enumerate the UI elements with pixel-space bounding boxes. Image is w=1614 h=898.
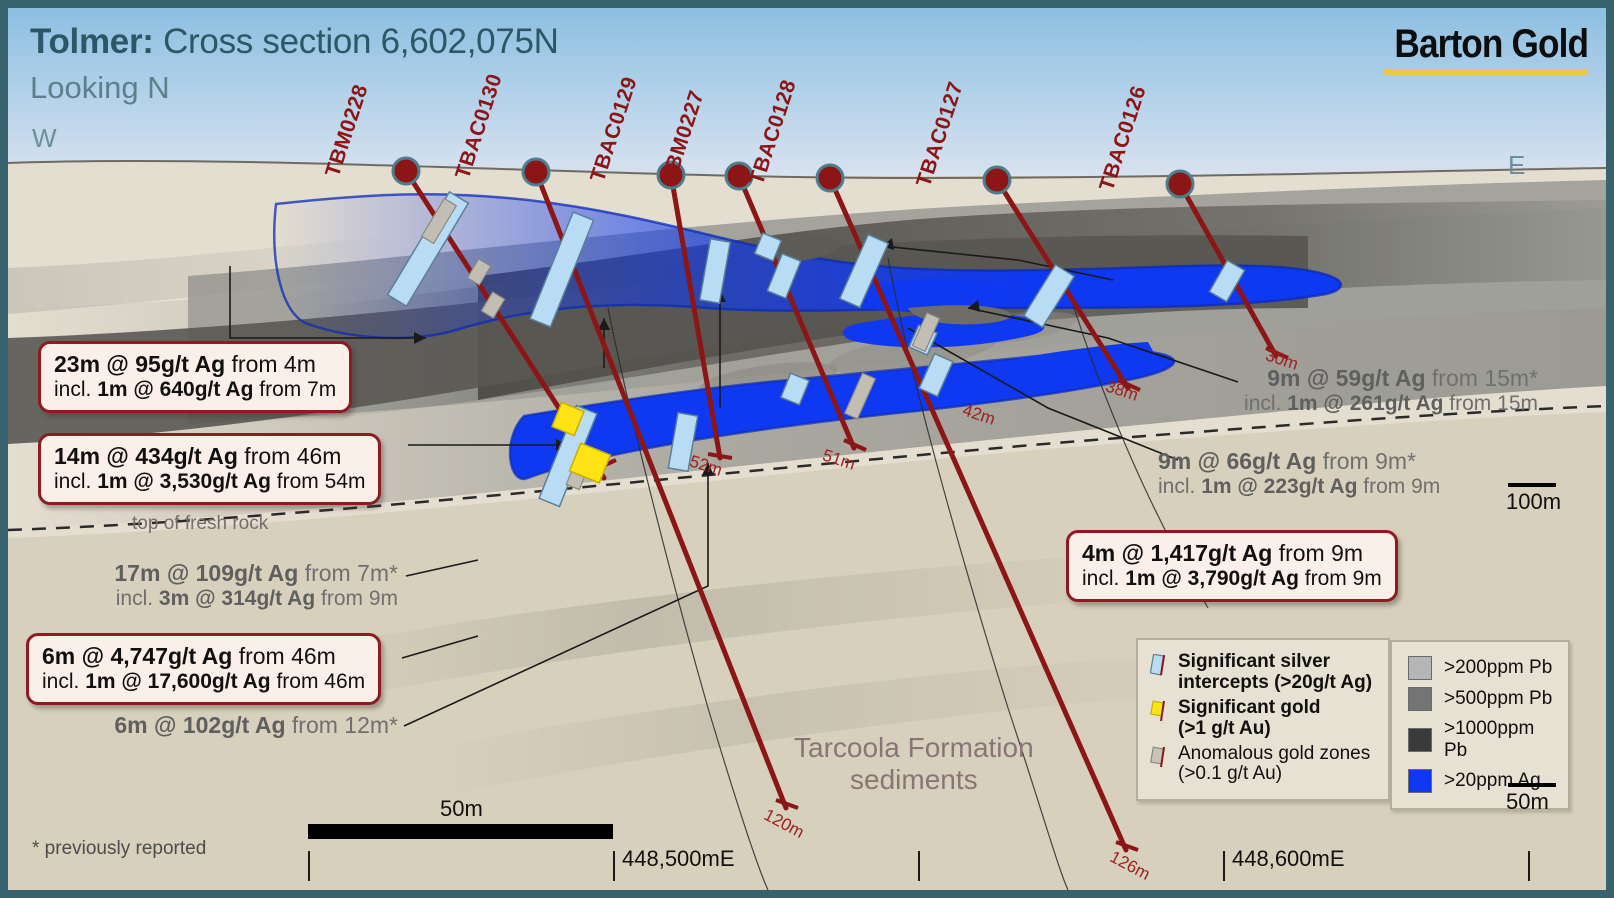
callout-4-from: from 46m (232, 643, 336, 669)
swatch-1000ppm-pb (1408, 728, 1432, 752)
callout-1-incl-pre: incl. (54, 378, 97, 401)
swatch-200ppm-pb (1408, 656, 1432, 680)
callout-6m-4747gt: 6m @ 4,747g/t Ag from 46m incl. 1m @ 17,… (26, 633, 381, 705)
callout-1-incl-value: 1m @ 640g/t Ag (97, 378, 253, 401)
title-rest: Cross section 6,602,075N (154, 22, 559, 61)
callout-1-value: 23m @ 95g/t Ag (54, 351, 225, 377)
top-of-fresh-rock-label: top of fresh rock (132, 513, 268, 535)
legend-label-200ppm: >200ppm Pb (1444, 657, 1552, 679)
legend-anomalous-l2: (>0.1 g/t Au) (1178, 763, 1282, 784)
coord-tick-mid (918, 851, 920, 881)
callout-6m-102gt: 6m @ 102g/t Ag from 12m* (68, 712, 398, 739)
callout-9m-66gt: 9m @ 66g/t Ag from 9m* incl. 1m @ 223g/t… (1158, 448, 1538, 499)
callout-8-incl-pre: incl. (1082, 567, 1125, 590)
cross-section-figure: Tolmer: Cross section 6,602,075N Looking… (0, 0, 1614, 898)
callout-6-value: 9m @ 59g/t Ag (1267, 365, 1425, 391)
callout-4-incl-value: 1m @ 17,600g/t Ag (85, 670, 270, 693)
legend-label-1000ppm: >1000ppm Pb (1444, 718, 1558, 762)
legend-row-1000ppm: >1000ppm Pb (1408, 718, 1558, 762)
callout-2-from: from 46m (238, 443, 342, 469)
callout-8-from: from 9m (1272, 540, 1363, 566)
vertical-scale-tick-100m (1508, 483, 1556, 487)
callout-3-from: from 7m* (298, 560, 398, 586)
formation-line-1: Tarcoola Formation (794, 732, 1034, 764)
silver-intercept-icon (1150, 654, 1170, 674)
brand-logo: Barton Gold (1368, 22, 1588, 75)
callout-7-value: 9m @ 66g/t Ag (1158, 448, 1316, 474)
brand-name: Barton Gold (1394, 22, 1588, 67)
callout-9m-59gt: 9m @ 59g/t Ag from 15m* incl. 1m @ 261g/… (1158, 365, 1538, 416)
callout-23m-95gt: 23m @ 95g/t Ag from 4m incl. 1m @ 640g/t… (38, 341, 352, 413)
legend-gold-l1: Significant gold (1178, 697, 1321, 718)
gold-intercept-icon (1150, 700, 1170, 720)
callout-4-incl-from: from 46m (271, 670, 366, 693)
scale-bar-label: 50m (440, 796, 483, 822)
vertical-scale-label-100m: 100m (1506, 489, 1561, 515)
callout-8-value: 4m @ 1,417g/t Ag (1082, 540, 1272, 566)
callout-6-incl-from: from 15m (1443, 392, 1538, 415)
callout-3-value: 17m @ 109g/t Ag (114, 560, 298, 586)
legend-item-anomalous: Anomalous gold zones (>0.1 g/t Au) (1150, 744, 1378, 786)
callout-4-incl-pre: incl. (42, 670, 85, 693)
callout-4m-1417gt: 4m @ 1,417g/t Ag from 9m incl. 1m @ 3,79… (1066, 530, 1398, 602)
callout-5-value: 6m @ 102g/t Ag (114, 712, 285, 738)
legend-gold-l2: (>1 g/t Au) (1178, 718, 1271, 739)
coord-tick-right (1223, 851, 1225, 881)
subtitle: Looking N (30, 70, 170, 106)
callout-6-incl-pre: incl. (1244, 392, 1287, 415)
callout-2-value: 14m @ 434g/t Ag (54, 443, 238, 469)
callout-3-incl-value: 3m @ 314g/t Ag (159, 587, 315, 610)
formation-label: Tarcoola Formation sediments (794, 732, 1034, 796)
callout-7-incl-from: from 9m (1357, 475, 1440, 498)
callout-7-from: from 9m* (1316, 448, 1416, 474)
callout-1-incl-from: from 7m (253, 378, 336, 401)
callout-2-incl-value: 1m @ 3,530g/t Ag (97, 470, 271, 493)
coord-tick-left (308, 851, 310, 881)
scale-bar (308, 824, 613, 839)
callout-1-from: from 4m (225, 351, 316, 377)
coord-tick-far-right (1528, 851, 1530, 881)
legend-item-gold: Significant gold (>1 g/t Au) (1150, 698, 1378, 740)
callout-17m-109gt: 17m @ 109g/t Ag from 7m* incl. 3m @ 314g… (68, 560, 398, 611)
swatch-20ppm-ag (1408, 769, 1432, 793)
legend-symbols: Significant silver intercepts (>20g/t Ag… (1136, 638, 1390, 801)
vertical-scale-tick-50m (1508, 783, 1556, 787)
brand-underline (1383, 69, 1588, 75)
page-title: Tolmer: Cross section 6,602,075N (30, 22, 559, 62)
callout-14m-434gt: 14m @ 434g/t Ag from 46m incl. 1m @ 3,53… (38, 433, 381, 505)
legend-item-silver: Significant silver intercepts (>20g/t Ag… (1150, 652, 1378, 694)
legend-row-200ppm: >200ppm Pb (1408, 656, 1558, 680)
callout-3-incl-from: from 9m (315, 587, 398, 610)
swatch-500ppm-pb (1408, 687, 1432, 711)
callout-2-incl-pre: incl. (54, 470, 97, 493)
footnote: * previously reported (32, 838, 206, 860)
legend-silver-l2: intercepts (>20g/t Ag) (1178, 672, 1372, 693)
callout-7-incl-pre: incl. (1158, 475, 1201, 498)
anomalous-gold-icon (1150, 746, 1170, 766)
callout-2-incl-from: from 54m (271, 470, 366, 493)
legend-silver-l1: Significant silver (1178, 651, 1330, 672)
formation-line-2: sediments (794, 764, 1034, 796)
callout-8-incl-from: from 9m (1299, 567, 1382, 590)
callout-6-from: from 15m* (1426, 365, 1538, 391)
legend-anomalous-l1: Anomalous gold zones (1178, 743, 1370, 764)
coord-label-448500: 448,500mE (622, 846, 735, 872)
vertical-scale-label-50m: 50m (1506, 789, 1549, 815)
callout-7-incl-value: 1m @ 223g/t Ag (1201, 475, 1357, 498)
east-label: E (1508, 150, 1525, 181)
title-bold: Tolmer: (30, 22, 154, 61)
legend-label-500ppm: >500ppm Pb (1444, 688, 1552, 710)
callout-8-incl-value: 1m @ 3,790g/t Ag (1125, 567, 1299, 590)
legend-row-500ppm: >500ppm Pb (1408, 687, 1558, 711)
coord-label-448600: 448,600mE (1232, 846, 1345, 872)
callout-5-from: from 12m* (286, 712, 398, 738)
callout-3-incl-pre: incl. (116, 587, 159, 610)
coord-tick-center (613, 851, 615, 881)
callout-4-value: 6m @ 4,747g/t Ag (42, 643, 232, 669)
callout-6-incl-value: 1m @ 261g/t Ag (1287, 392, 1443, 415)
west-label: W (32, 123, 57, 154)
